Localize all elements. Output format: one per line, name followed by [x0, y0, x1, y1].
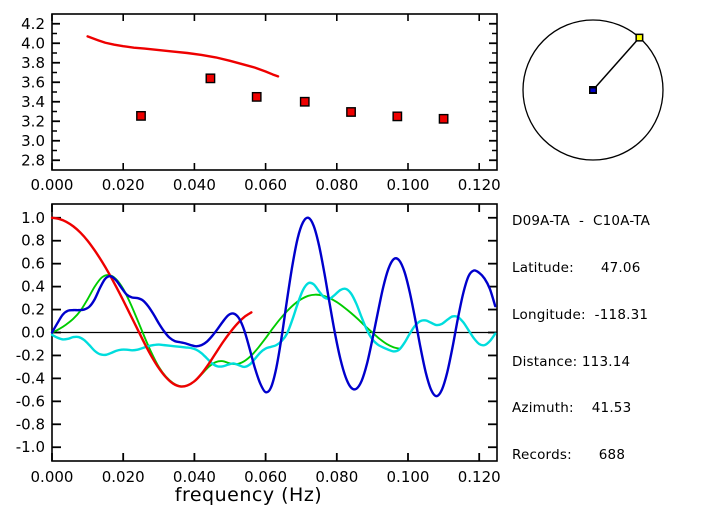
- measured-point-marker[interactable]: [206, 74, 214, 82]
- measured-point-marker[interactable]: [439, 115, 447, 123]
- y-tick-label: 0.6: [21, 255, 45, 273]
- coherence-plot-area: 0.0000.0200.0400.0600.0800.1000.120-1.0-…: [16, 204, 501, 486]
- y-tick-label: 0.8: [21, 232, 45, 250]
- azimuth-ray: [593, 38, 639, 90]
- y-tick-label: -0.4: [16, 369, 45, 387]
- y-tick-label: 3.8: [21, 54, 45, 72]
- measured-point-marker[interactable]: [393, 112, 401, 120]
- station-pair-info: D09A-TA - C10A-TA Latitude: 47.06 Longit…: [512, 183, 702, 495]
- dial-center-marker[interactable]: [591, 89, 596, 93]
- dispersion-plot-area: 0.0000.0200.0400.0600.0800.1000.1202.83.…: [21, 14, 501, 194]
- x-tick-label: 0.020: [102, 176, 145, 194]
- x-tick-label: 0.040: [173, 176, 216, 194]
- x-tick-label: 0.100: [387, 176, 430, 194]
- y-tick-label: 0.4: [21, 278, 45, 296]
- y-tick-label: -0.2: [16, 346, 45, 364]
- figure-root: 0.0000.0200.0400.0600.0800.1000.1202.83.…: [0, 0, 703, 519]
- info-records: Records: 688: [512, 448, 702, 464]
- y-tick-label: -1.0: [16, 438, 45, 456]
- info-title: D09A-TA - C10A-TA: [512, 214, 702, 230]
- cyan-trace: [52, 283, 495, 367]
- measured-point-marker[interactable]: [253, 93, 261, 101]
- info-longitude: Longitude: -118.31: [512, 308, 702, 324]
- info-distance: Distance: 113.14: [512, 355, 702, 371]
- info-azimuth: Azimuth: 41.53: [512, 401, 702, 417]
- y-tick-label: 3.4: [21, 93, 45, 111]
- y-tick-label: 3.2: [21, 112, 45, 130]
- y-tick-label: 1.0: [21, 209, 45, 227]
- y-tick-label: 2.8: [21, 151, 45, 169]
- y-tick-label: 0.0: [21, 324, 45, 342]
- y-tick-label: 4.0: [21, 34, 45, 52]
- azimuth-dial[interactable]: [503, 2, 703, 182]
- x-tick-label: 0.080: [315, 176, 358, 194]
- measured-point-marker[interactable]: [347, 108, 355, 116]
- y-tick-label: 0.2: [21, 301, 45, 319]
- measured-point-marker[interactable]: [301, 98, 309, 106]
- dial-endpoint-marker[interactable]: [637, 35, 642, 40]
- blue-trace: [52, 218, 495, 397]
- x-tick-label: 0.120: [458, 176, 501, 194]
- green-trace: [52, 275, 399, 386]
- info-latitude: Latitude: 47.06: [512, 261, 702, 277]
- reference-curve: [88, 36, 278, 76]
- x-axis-title: frequency (Hz): [0, 484, 497, 506]
- y-tick-label: 3.6: [21, 73, 45, 91]
- x-tick-label: 0.060: [244, 176, 287, 194]
- x-tick-label: 0.000: [31, 176, 74, 194]
- measured-point-marker[interactable]: [137, 112, 145, 120]
- dial-group: [523, 20, 663, 160]
- y-tick-label: -0.6: [16, 392, 45, 410]
- y-tick-label: 3.0: [21, 132, 45, 150]
- y-tick-label: -0.8: [16, 415, 45, 433]
- plot-frame: [52, 14, 497, 170]
- y-tick-label: 4.2: [21, 15, 45, 33]
